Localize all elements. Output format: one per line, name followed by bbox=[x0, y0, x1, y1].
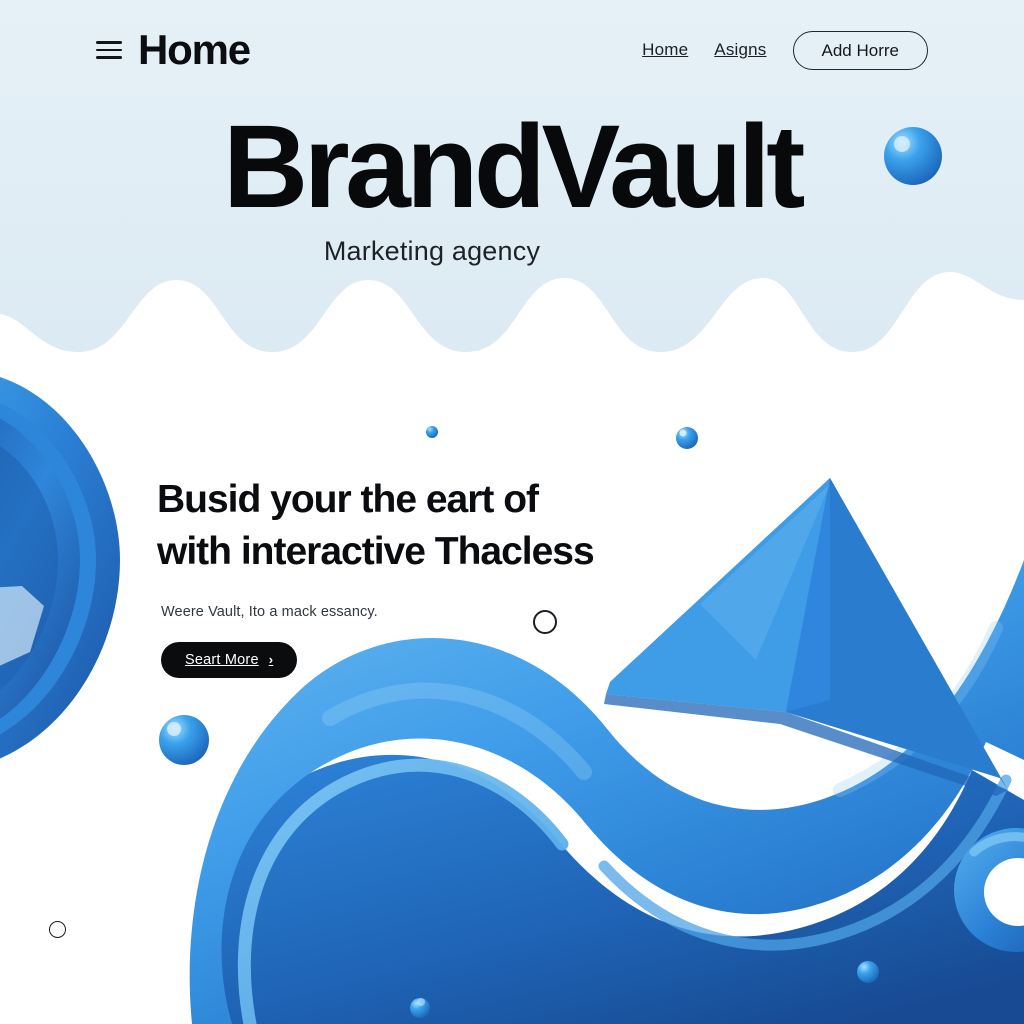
sphere-small-mid-2 bbox=[676, 427, 698, 449]
hero-title-block: BrandVault bbox=[0, 108, 1024, 226]
torus-bottom-right bbox=[954, 828, 1024, 952]
top-navigation-bar: Home Home Asigns Add Horre bbox=[0, 0, 1024, 100]
nav-links-group: Home Asigns Add Horre bbox=[642, 31, 928, 70]
nav-link-home[interactable]: Home bbox=[642, 40, 688, 60]
torus-left-edge bbox=[0, 369, 120, 772]
landing-page: Home Home Asigns Add Horre BrandVault Ma… bbox=[0, 0, 1024, 1024]
sphere-ribbon-dot bbox=[417, 998, 425, 1006]
sphere-bottom-b bbox=[857, 961, 879, 983]
nav-link-asigns[interactable]: Asigns bbox=[714, 40, 766, 60]
add-horre-button[interactable]: Add Horre bbox=[793, 31, 928, 70]
headline-line-1: Busid your the eart of bbox=[157, 478, 538, 521]
hero-subtitle: Marketing agency bbox=[0, 236, 1024, 267]
sphere-bottom-a bbox=[410, 998, 430, 1018]
sphere-left-lower bbox=[159, 715, 209, 765]
decor-outline-circle-bottom-left bbox=[49, 921, 66, 938]
hamburger-menu-icon[interactable] bbox=[96, 41, 122, 59]
body-text: Weere Vault, Ito a mack essancy. bbox=[161, 604, 717, 620]
headline: Busid your the eart of with interactive … bbox=[157, 474, 717, 578]
brand-label[interactable]: Home bbox=[138, 29, 250, 71]
page-title: BrandVault bbox=[0, 108, 1024, 226]
chevron-right-icon: › bbox=[269, 653, 274, 666]
headline-line-2: with interactive Thacless bbox=[157, 530, 594, 573]
sphere-small-mid bbox=[426, 426, 438, 438]
cta-label: Seart More bbox=[185, 653, 259, 668]
seart-more-button[interactable]: Seart More › bbox=[161, 642, 297, 679]
brand-group: Home bbox=[96, 29, 250, 71]
hero-copy-block: Busid your the eart of with interactive … bbox=[157, 474, 717, 678]
